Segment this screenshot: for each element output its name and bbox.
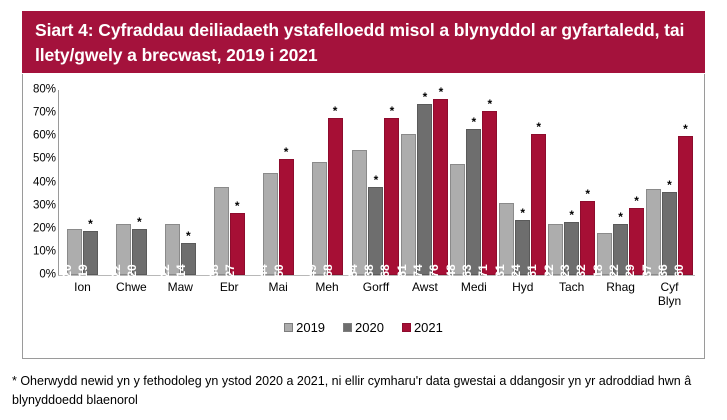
bar[interactable]: 27 — [230, 213, 245, 275]
legend-label: 2020 — [355, 320, 384, 335]
legend-swatch — [402, 323, 411, 332]
bar-group-bars: 54*38*68 — [352, 90, 401, 275]
bar-slot: 31 — [499, 90, 514, 275]
bar-group-bars: 31*24*61 — [498, 90, 547, 275]
bar[interactable]: 54 — [352, 150, 367, 275]
bar-slot: *19 — [83, 90, 98, 275]
bar-group-bars: 49*68 — [303, 90, 352, 275]
bar-value-label: 22 — [110, 264, 123, 277]
bar-slot: *61 — [531, 90, 546, 275]
chart-title-banner: Siart 4: Cyfraddau deiliadaeth ystafello… — [22, 11, 705, 73]
bar-value-label: 63 — [461, 264, 474, 277]
bar-value-label: 27 — [224, 264, 237, 277]
bar-group-bars: 37*36*60 — [645, 90, 694, 275]
bar[interactable]: 71 — [482, 111, 497, 275]
plot-area: 20*1922*2022*1438*2744*5049*6854*38*6861… — [58, 90, 694, 275]
legend-item[interactable]: 2019 — [284, 320, 325, 335]
bar-value-label: 14 — [175, 264, 188, 277]
x-axis-tick-label: Awst — [400, 280, 449, 294]
asterisk-marker-icon: * — [569, 211, 574, 219]
bar-slot: 61 — [401, 90, 416, 275]
bar-group-bars: 18*22*29 — [596, 90, 645, 275]
bar-value-label: 22 — [543, 264, 556, 277]
x-axis-tick-label: Medi — [449, 280, 498, 294]
page-title: Siart 4: Cyfraddau deiliadaeth ystafello… — [35, 18, 692, 68]
bar-slot: 54 — [352, 90, 367, 275]
legend-item[interactable]: 2020 — [343, 320, 384, 335]
asterisk-marker-icon: * — [634, 197, 639, 205]
bar-slot: 22 — [548, 90, 563, 275]
bar-value-label: 74 — [412, 264, 425, 277]
bar-group-bars: 48*63*71 — [449, 90, 498, 275]
bar-value-label: 49 — [306, 264, 319, 277]
bar-value-label: 68 — [379, 264, 392, 277]
bar-slot: *38 — [368, 90, 383, 275]
bar-group: 61*74*76 — [400, 90, 449, 275]
y-axis-tick-label: 30% — [20, 200, 56, 211]
bar-value-label: 29 — [624, 264, 637, 277]
bar-value-label: 54 — [347, 264, 360, 277]
chart-legend: 201920202021 — [23, 320, 704, 335]
bar-slot: *74 — [417, 90, 432, 275]
x-axis-tick-label: Mai — [254, 280, 303, 294]
bar[interactable]: 50 — [279, 159, 294, 275]
bar-group: 18*22*29 — [596, 90, 645, 275]
bar-group: 22*20 — [107, 90, 156, 275]
asterisk-marker-icon: * — [471, 118, 476, 126]
bar[interactable]: 68 — [384, 118, 399, 275]
asterisk-marker-icon: * — [423, 93, 428, 101]
y-axis: 80%70%60%50%40%30%20%10%0% — [23, 90, 56, 276]
bar-slot: *23 — [564, 90, 579, 275]
asterisk-marker-icon: * — [88, 220, 93, 228]
bar[interactable]: 36 — [662, 192, 677, 275]
bar[interactable]: 38 — [214, 187, 229, 275]
bar-group: 54*38*68 — [352, 90, 401, 275]
asterisk-marker-icon: * — [585, 190, 590, 198]
legend-swatch — [343, 323, 352, 332]
bar-group-bars: 20*19 — [58, 90, 107, 275]
bar-slot: 38 — [214, 90, 229, 275]
bar-group-bars: 44*50 — [254, 90, 303, 275]
bar[interactable]: 48 — [450, 164, 465, 275]
bar-value-label: 19 — [77, 264, 90, 277]
bar[interactable]: 60 — [678, 136, 693, 275]
bar-value-label: 61 — [526, 264, 539, 277]
bar-group: 49*68 — [303, 90, 352, 275]
legend-swatch — [284, 323, 293, 332]
bar-slot: *20 — [132, 90, 147, 275]
bar[interactable]: 19 — [83, 231, 98, 275]
bar-slot: *27 — [230, 90, 245, 275]
bar-group: 20*19 — [58, 90, 107, 275]
bar[interactable]: 61 — [531, 134, 546, 275]
bar-value-label: 50 — [273, 264, 286, 277]
bar-group-bars: 22*20 — [107, 90, 156, 275]
x-axis-tick-label: Tach — [547, 280, 596, 294]
bar-value-label: 20 — [61, 264, 74, 277]
y-axis-tick-label: 20% — [20, 223, 56, 234]
asterisk-marker-icon: * — [186, 232, 191, 240]
bar-value-label: 76 — [428, 264, 441, 277]
bar-value-label: 68 — [322, 264, 335, 277]
bar-slot: 22 — [116, 90, 131, 275]
bar-value-label: 38 — [363, 264, 376, 277]
legend-item[interactable]: 2021 — [402, 320, 443, 335]
bar-slot: *24 — [515, 90, 530, 275]
bar-slot: *32 — [580, 90, 595, 275]
bar-slot: 20 — [67, 90, 82, 275]
y-axis-tick-label: 0% — [20, 270, 56, 281]
bar-slot: *68 — [384, 90, 399, 275]
bar-value-label: 44 — [257, 264, 270, 277]
bar-value-label: 60 — [673, 264, 686, 277]
bar-value-label: 32 — [575, 264, 588, 277]
x-axis-tick-label: Ion — [58, 280, 107, 294]
bar-value-label: 24 — [510, 264, 523, 277]
bar-value-label: 20 — [126, 264, 139, 277]
bar[interactable]: 68 — [328, 118, 343, 275]
bar-slot: 37 — [646, 90, 661, 275]
bar-group: 44*50 — [254, 90, 303, 275]
legend-label: 2019 — [296, 320, 325, 335]
y-axis-tick-label: 80% — [20, 85, 56, 96]
bar[interactable]: 44 — [263, 173, 278, 275]
x-axis-tick-label: Cyf Blyn — [645, 280, 694, 308]
x-axis-tick-label: Hyd — [498, 280, 547, 294]
bar-slot: *29 — [629, 90, 644, 275]
bar-value-label: 31 — [494, 264, 507, 277]
bar-group-bars: 61*74*76 — [400, 90, 449, 275]
bar-slot: *60 — [678, 90, 693, 275]
bar-slot: *22 — [613, 90, 628, 275]
bar-group: 48*63*71 — [449, 90, 498, 275]
bar-value-label: 22 — [608, 264, 621, 277]
bar-slot: 18 — [597, 90, 612, 275]
bar[interactable]: 63 — [466, 129, 481, 275]
bar-slot: 44 — [263, 90, 278, 275]
x-axis-tick-label: Meh — [303, 280, 352, 294]
asterisk-marker-icon: * — [487, 100, 492, 108]
y-axis-tick-label: 70% — [20, 108, 56, 119]
bar[interactable]: 37 — [646, 189, 661, 275]
bar-slot: *63 — [466, 90, 481, 275]
x-axis-tick-label: Maw — [156, 280, 205, 294]
footnote: * Oherwydd newid yn y fethodoleg yn ysto… — [12, 372, 712, 411]
asterisk-marker-icon: * — [618, 213, 623, 221]
bar-value-label: 48 — [445, 264, 458, 277]
bar[interactable]: 61 — [401, 134, 416, 275]
bar-value-label: 37 — [641, 264, 654, 277]
x-axis-tick-label: Chwe — [107, 280, 156, 294]
bar-value-label: 71 — [477, 264, 490, 277]
bar[interactable]: 14 — [181, 243, 196, 275]
asterisk-marker-icon: * — [439, 88, 444, 96]
bar-slot: *71 — [482, 90, 497, 275]
bar-slot: 22 — [165, 90, 180, 275]
asterisk-marker-icon: * — [235, 202, 240, 210]
bar-value-label: 18 — [592, 264, 605, 277]
chart-container: 80%70%60%50%40%30%20%10%0% 20*1922*2022*… — [22, 74, 705, 359]
bar-slot: *68 — [328, 90, 343, 275]
y-axis-tick-label: 10% — [20, 246, 56, 257]
x-axis-tick-label: Gorff — [352, 280, 401, 294]
bar-value-label: 23 — [559, 264, 572, 277]
bar[interactable]: 38 — [368, 187, 383, 275]
bar-group: 37*36*60 — [645, 90, 694, 275]
asterisk-marker-icon: * — [520, 209, 525, 217]
asterisk-marker-icon: * — [333, 107, 338, 115]
y-axis-tick-label: 60% — [20, 131, 56, 142]
bar-group-bars: 38*27 — [205, 90, 254, 275]
bar-group: 38*27 — [205, 90, 254, 275]
bar-group-bars: 22*14 — [156, 90, 205, 275]
asterisk-marker-icon: * — [390, 107, 395, 115]
asterisk-marker-icon: * — [683, 125, 688, 133]
bar-group: 22*23*32 — [547, 90, 596, 275]
x-axis-tick-label: Rhag — [596, 280, 645, 294]
bar-value-label: 38 — [208, 264, 221, 277]
asterisk-marker-icon: * — [137, 218, 142, 226]
bar-slot: *50 — [279, 90, 294, 275]
bar[interactable]: 20 — [132, 229, 147, 275]
y-axis-tick-label: 50% — [20, 154, 56, 165]
asterisk-marker-icon: * — [374, 176, 379, 184]
bar[interactable]: 74 — [417, 104, 432, 275]
bar-value-label: 22 — [159, 264, 172, 277]
y-axis-tick-label: 40% — [20, 177, 56, 188]
bar-value-label: 36 — [657, 264, 670, 277]
bar-slot: 48 — [450, 90, 465, 275]
bar[interactable]: 76 — [433, 99, 448, 275]
asterisk-marker-icon: * — [284, 148, 289, 156]
bar-slot: *14 — [181, 90, 196, 275]
bar-group: 22*14 — [156, 90, 205, 275]
bar-value-label: 61 — [396, 264, 409, 277]
bar[interactable]: 49 — [312, 162, 327, 275]
bar-slot: 49 — [312, 90, 327, 275]
bar-slot: *76 — [433, 90, 448, 275]
legend-label: 2021 — [414, 320, 443, 335]
bar-slot: *36 — [662, 90, 677, 275]
bar-group: 31*24*61 — [498, 90, 547, 275]
x-axis-tick-label: Ebr — [205, 280, 254, 294]
asterisk-marker-icon: * — [667, 181, 672, 189]
bar-group-bars: 22*23*32 — [547, 90, 596, 275]
asterisk-marker-icon: * — [536, 123, 541, 131]
